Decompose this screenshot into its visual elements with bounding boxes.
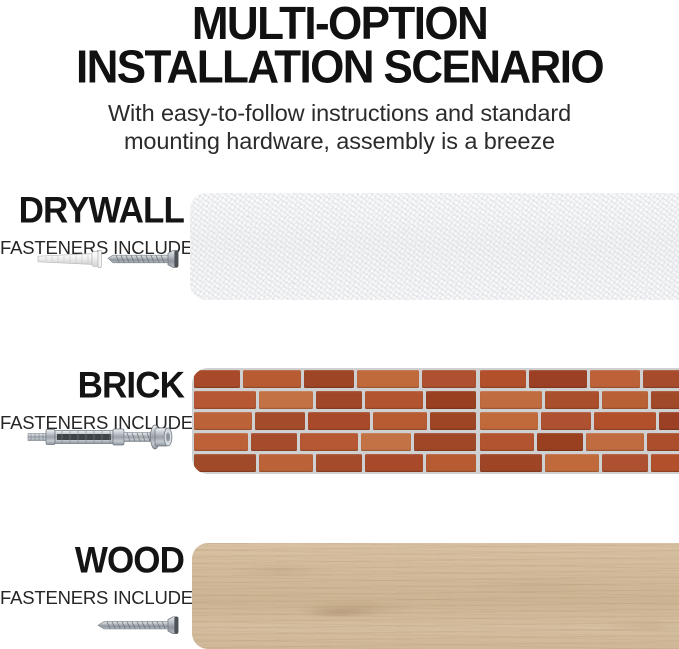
brick-unit [647,433,679,451]
brick-unit [194,433,248,451]
brick-row [192,368,679,389]
brick-unit [255,412,305,430]
brick-unit [426,454,476,472]
section-drywall: DRYWALL FASTENERS INCLUDED [0,180,679,310]
brick-unit [651,391,679,409]
brick-unit [480,454,542,472]
brick-row [192,432,679,453]
drywall-fastener-graphics [0,242,184,276]
brick-unit [541,412,591,430]
wood-labels: WOOD FASTENERS INCLUDED [0,542,184,608]
section-wood: WOOD FASTENERS INCLUDED [0,530,679,649]
brick-unit [316,454,362,472]
brick-unit [529,370,587,388]
brick-row [192,453,679,474]
brick-unit [480,433,534,451]
brick-unit [251,433,297,451]
brick-unit [651,454,679,472]
fasteners-note-wood: FASTENERS INCLUDED [0,589,184,608]
subtitle-line-1: With easy-to-follow instructions and sta… [0,99,679,128]
brick-unit [480,412,538,430]
brick-unit [365,391,423,409]
title-line-2: INSTALLATION SCENARIO [0,46,679,90]
brick-unit [300,433,358,451]
brick-unit [243,370,301,388]
brick-unit [594,412,656,430]
material-name-wood: WOOD [0,542,184,579]
brick-unit [259,391,313,409]
page-subtitle: With easy-to-follow instructions and sta… [0,99,679,156]
drywall-surface-panel [190,193,679,300]
brick-unit [365,454,423,472]
brick-unit [602,391,648,409]
wood-screw-icon [98,617,178,634]
wood-fastener-graphics [0,608,184,642]
brick-row [192,389,679,410]
brick-unit [194,454,256,472]
brick-unit [590,370,640,388]
plastic-wall-anchor-icon [38,250,101,267]
brick-unit [316,391,362,409]
brick-unit [545,454,599,472]
brick-unit [308,412,370,430]
brick-unit [430,412,476,430]
brick-unit [586,433,644,451]
brick-pattern [192,368,679,474]
material-name-brick: BRICK [0,367,184,404]
wood-surface-panel [192,543,679,649]
brick-unit [602,454,648,472]
brick-unit [659,412,679,430]
brick-fastener-graphics [0,417,184,451]
title-line-1: MULTI-OPTION [0,2,679,46]
flat-head-screw-icon [108,251,178,268]
brick-unit [414,433,476,451]
page-title: MULTI-OPTION INSTALLATION SCENARIO [0,2,679,90]
brick-unit [194,412,252,430]
brick-unit [643,370,679,388]
brick-unit [480,391,542,409]
sleeve-anchor-bolt-icon [28,425,172,449]
section-brick: BRICK FASTENERS INCLUDED [0,355,679,485]
header: MULTI-OPTION INSTALLATION SCENARIO With … [0,0,679,156]
brick-surface-panel [192,368,679,474]
brick-unit [422,370,476,388]
brick-unit [537,433,583,451]
brick-unit [480,370,526,388]
brick-unit [194,370,240,388]
brick-unit [545,391,599,409]
brick-unit [373,412,427,430]
brick-unit [259,454,313,472]
brick-unit [361,433,411,451]
brick-unit [357,370,419,388]
brick-unit [426,391,476,409]
material-name-drywall: DRYWALL [0,192,184,229]
subtitle-line-2: mounting hardware, assembly is a breeze [0,127,679,156]
brick-unit [304,370,354,388]
brick-row [192,410,679,431]
brick-unit [194,391,256,409]
